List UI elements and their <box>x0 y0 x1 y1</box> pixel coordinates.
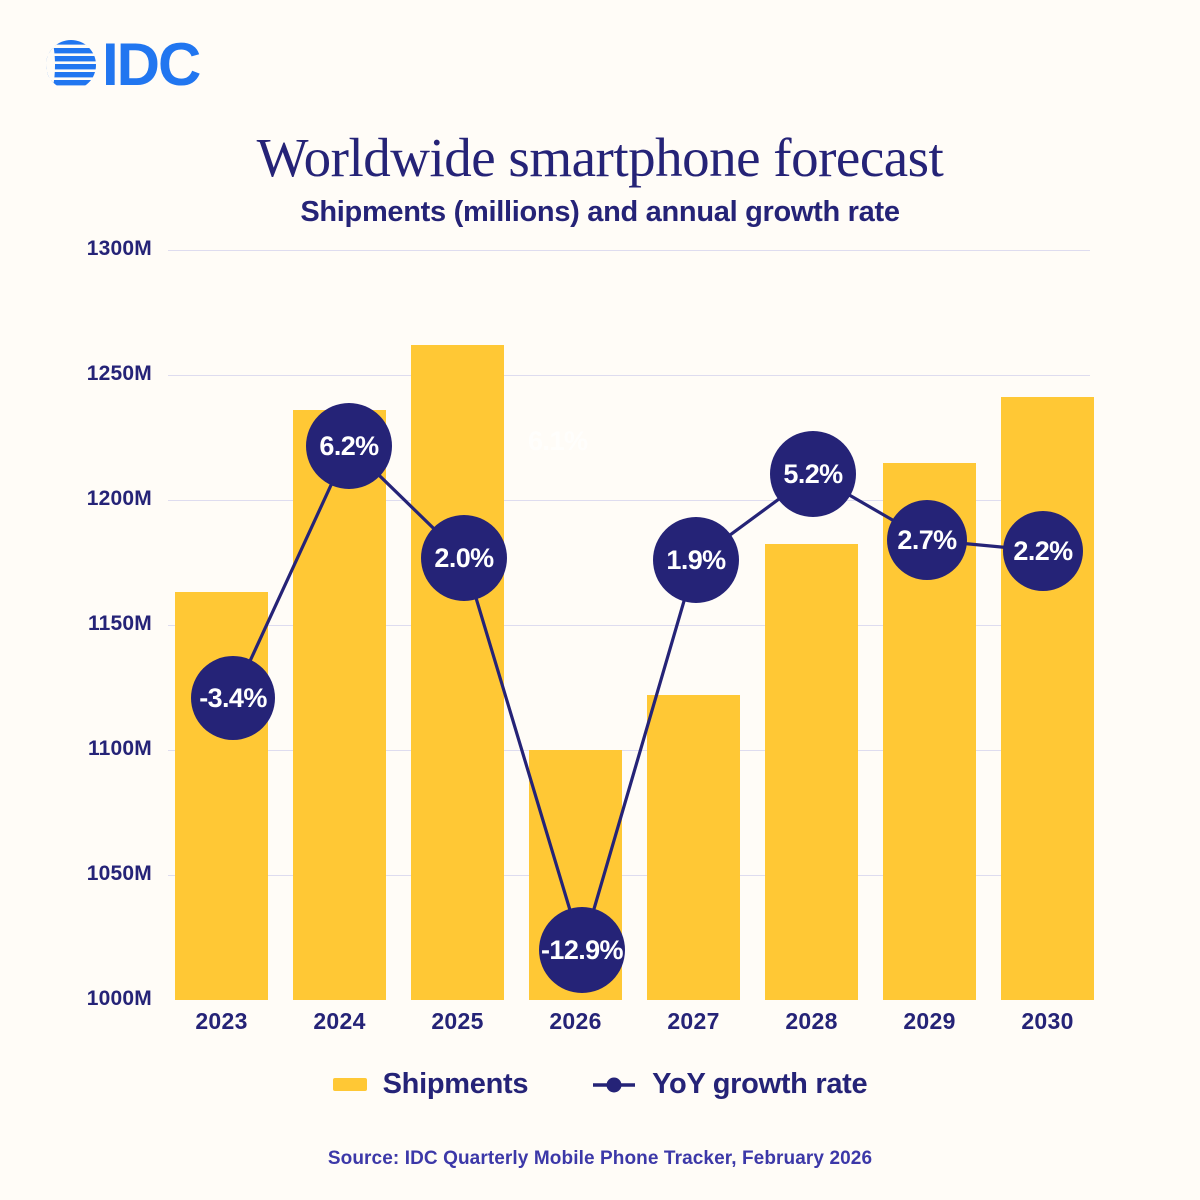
legend-item-yoy-growth-rate[interactable]: YoY growth rate <box>592 1068 867 1101</box>
x-axis-tick-2025: 2025 <box>411 1008 504 1035</box>
growth-bubble-2030[interactable]: 2.2% <box>1003 511 1083 591</box>
legend-label-yoy-growth-rate: YoY growth rate <box>652 1068 867 1101</box>
growth-bubble-2026[interactable]: -12.9% <box>539 907 625 993</box>
y-axis-tick-label: 1300M <box>32 237 152 261</box>
page-subtitle: Shipments (millions) and annual growth r… <box>0 196 1200 229</box>
x-axis-tick-2027: 2027 <box>647 1008 740 1035</box>
x-axis-tick-2026: 2026 <box>529 1008 622 1035</box>
growth-bubble-2024[interactable]: 6.2% <box>306 403 392 489</box>
x-axis-tick-2024: 2024 <box>293 1008 386 1035</box>
growth-bubble-layer: -3.4%6.2%2.0%-12.9%1.9%5.2%2.7%2.2% <box>168 250 1090 1000</box>
y-axis-tick-label: 1000M <box>32 987 152 1011</box>
legend-line-dot-swatch-icon <box>592 1076 636 1094</box>
x-axis-tick-2023: 2023 <box>175 1008 268 1035</box>
legend-bar-swatch-icon <box>333 1078 367 1091</box>
growth-bubble-2029[interactable]: 2.7% <box>887 500 967 580</box>
source-note: Source: IDC Quarterly Mobile Phone Track… <box>0 1148 1200 1170</box>
chart-legend: Shipments YoY growth rate <box>0 1068 1200 1101</box>
y-axis-tick-label: 1100M <box>32 737 152 761</box>
plot-area: 6.1% -3.4%6.2%2.0%-12.9%1.9%5.2%2.7%2.2% <box>168 250 1090 1000</box>
idc-logo-text: IDC <box>102 38 199 92</box>
x-axis-tick-2028: 2028 <box>765 1008 858 1035</box>
growth-bubble-2025[interactable]: 2.0% <box>421 515 507 601</box>
legend-label-shipments: Shipments <box>383 1068 529 1101</box>
x-axis-tick-2029: 2029 <box>883 1008 976 1035</box>
growth-bubble-2028[interactable]: 5.2% <box>770 431 856 517</box>
x-axis-tick-2030: 2030 <box>1001 1008 1094 1035</box>
chart-page: IDC Worldwide smartphone forecast Shipme… <box>0 0 1200 1200</box>
growth-bubble-2027[interactable]: 1.9% <box>653 517 739 603</box>
legend-item-shipments[interactable]: Shipments <box>333 1068 529 1101</box>
y-axis-tick-label: 1150M <box>32 612 152 636</box>
growth-bubble-2023[interactable]: -3.4% <box>191 656 275 740</box>
y-axis-tick-label: 1250M <box>32 362 152 386</box>
y-axis-tick-label: 1050M <box>32 862 152 886</box>
page-title: Worldwide smartphone forecast <box>0 126 1200 189</box>
y-axis-tick-label: 1200M <box>32 487 152 511</box>
idc-logo: IDC <box>44 38 199 92</box>
idc-globe-icon <box>44 38 98 92</box>
